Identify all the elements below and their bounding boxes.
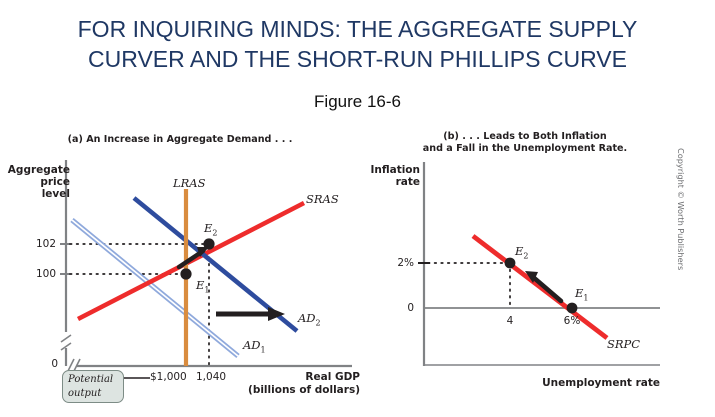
- figure-container: (a) An Increase in Aggregate Demand . . …: [0, 126, 715, 417]
- panel-a-label-sras: SRAS: [306, 192, 339, 206]
- panel-b-label-srpc: SRPC: [607, 337, 640, 351]
- panel-b-x-axis-label: Unemployment rate: [500, 377, 660, 389]
- potential-output-callout: Potential output: [62, 370, 124, 403]
- copyright-notice: Copyright © Worth Publishers: [676, 148, 686, 278]
- panel-b-point-e2: [505, 258, 516, 269]
- panel-a-label-lras: LRAS: [173, 176, 205, 190]
- panel-a-label-ad2: AD2: [298, 311, 321, 327]
- panel-b-xtick-label-6pct: 6%: [558, 315, 586, 327]
- panel-a-ytick-label-102: 102: [24, 238, 56, 250]
- panel-b-movement-arrow-icon: [525, 271, 561, 301]
- panel-b-phillips-curve: (b) . . . Leads to Both Inflation and a …: [370, 126, 680, 417]
- panel-b-point-e1: [567, 303, 578, 314]
- panel-a-xtick-label-1040: 1,040: [196, 371, 226, 383]
- panel-a-point-e2: [203, 238, 214, 249]
- panel-a-x-axis-label: Real GDP: [255, 371, 360, 383]
- panel-a-label-e2: E2: [204, 221, 218, 237]
- slide-canvas: FOR INQUIRING MINDS: THE AGGREGATE SUPPL…: [0, 0, 715, 417]
- figure-caption: Figure 16-6: [0, 92, 715, 112]
- panel-b-label-e1: E1: [575, 286, 589, 302]
- panel-a-y-axis-label: Aggregate price level: [0, 164, 70, 200]
- panel-b-title: (b) . . . Leads to Both Inflation and a …: [400, 131, 650, 154]
- panel-a-ytick-label-100: 100: [24, 268, 56, 280]
- panel-a-label-e1: E1: [196, 278, 210, 294]
- panel-b-ytick-label-0: 0: [384, 302, 414, 314]
- panel-a-label-ad1: AD1: [243, 338, 266, 354]
- panel-a-xtick-label-1000: $1,000: [150, 371, 187, 383]
- panel-a-aggregate-demand: (a) An Increase in Aggregate Demand . . …: [0, 126, 370, 417]
- panel-b-y-axis-label: Inflation rate: [362, 164, 420, 188]
- panel-a-title: (a) An Increase in Aggregate Demand . . …: [20, 134, 340, 146]
- slide-title: FOR INQUIRING MINDS: THE AGGREGATE SUPPL…: [0, 14, 715, 74]
- panel-b-xtick-label-4: 4: [498, 315, 522, 327]
- panel-b-label-e2: E2: [515, 244, 529, 260]
- panel-a-x-axis-sublabel: (billions of dollars): [220, 384, 360, 396]
- panel-a-point-e1: [180, 268, 191, 279]
- panel-a-origin-label: 0: [44, 358, 58, 370]
- panel-b-ytick-label-2pct: 2%: [384, 257, 414, 269]
- panel-a-axis-break-y-icon: [61, 335, 71, 350]
- panel-a-ad-shift-arrow-icon: [216, 307, 285, 321]
